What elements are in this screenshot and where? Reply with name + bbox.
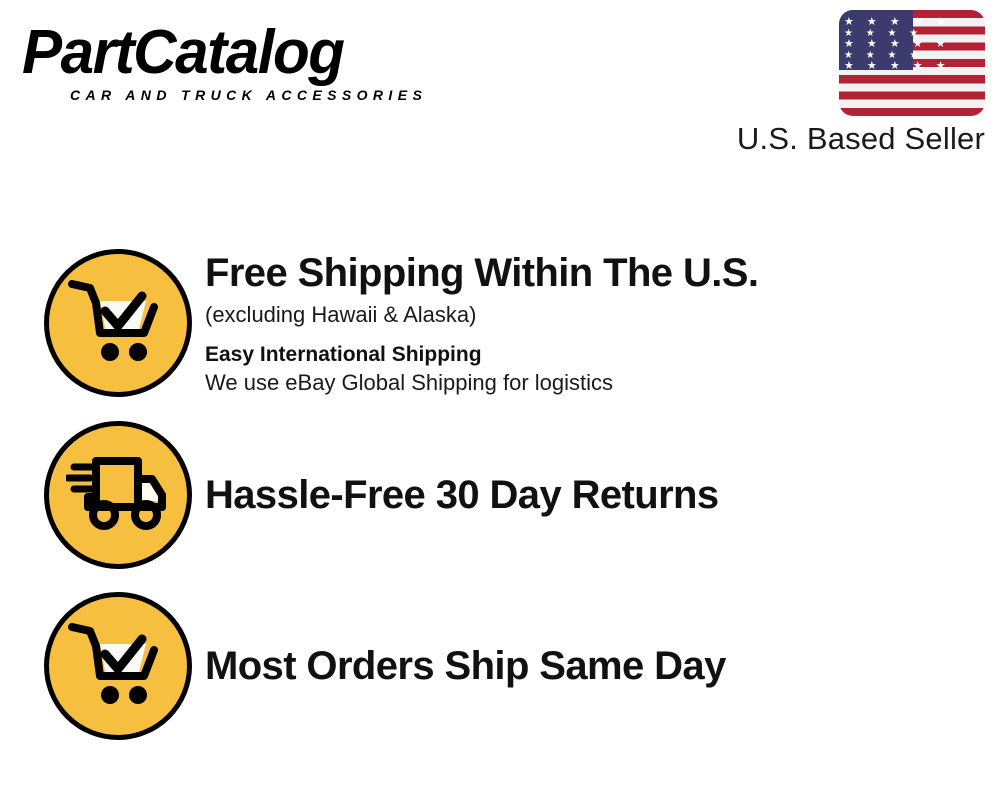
- feature-text-block: Hassle-Free 30 Day Returns: [205, 472, 1000, 518]
- brand-wordmark: PartCatalog: [22, 24, 478, 83]
- feature-row: Most Orders Ship Same Day: [0, 591, 1000, 741]
- flag-star-row: ★ ★ ★ ★ ★: [839, 39, 913, 50]
- flag-star-row: ★ ★ ★ ★ ★: [839, 17, 913, 28]
- brand-logo[interactable]: PartCatalog CAR AND TRUCK ACCESSORIES: [22, 24, 492, 103]
- flag-star-row: ★ ★ ★ ★ ★: [839, 61, 913, 72]
- page-header: PartCatalog CAR AND TRUCK ACCESSORIES ★ …: [0, 0, 1000, 175]
- shopping-cart-check-icon: [44, 249, 192, 397]
- feature-title: Most Orders Ship Same Day: [205, 643, 980, 689]
- brand-tagline: CAR AND TRUCK ACCESSORIES: [70, 87, 492, 103]
- feature-subtitle-2: Easy International Shipping: [205, 341, 980, 368]
- feature-row: Hassle-Free 30 Day Returns: [0, 420, 1000, 570]
- delivery-truck-icon: [44, 421, 192, 569]
- feature-title: Free Shipping Within The U.S.: [205, 250, 980, 296]
- feature-text-block: Most Orders Ship Same Day: [205, 643, 1000, 689]
- us-flag-icon: ★ ★ ★ ★ ★ ★ ★ ★ ★ ★ ★ ★ ★ ★ ★ ★ ★ ★ ★ ★ …: [839, 10, 985, 116]
- feature-subtitle: (excluding Hawaii & Alaska): [205, 301, 980, 329]
- us-based-seller-badge: ★ ★ ★ ★ ★ ★ ★ ★ ★ ★ ★ ★ ★ ★ ★ ★ ★ ★ ★ ★ …: [715, 10, 985, 157]
- seller-label: U.S. Based Seller: [715, 121, 985, 157]
- promo-banner-page: { "page": { "background_color": "#ffffff…: [0, 0, 1000, 800]
- feature-subtitle-3: We use eBay Global Shipping for logistic…: [205, 369, 980, 397]
- feature-text-block: Free Shipping Within The U.S. (excluding…: [205, 250, 1000, 397]
- shopping-cart-check-icon: [44, 592, 192, 740]
- feature-title: Hassle-Free 30 Day Returns: [205, 472, 980, 518]
- feature-row: Free Shipping Within The U.S. (excluding…: [0, 248, 1000, 398]
- flag-canton: ★ ★ ★ ★ ★ ★ ★ ★ ★ ★ ★ ★ ★ ★ ★ ★ ★ ★ ★ ★ …: [839, 10, 913, 70]
